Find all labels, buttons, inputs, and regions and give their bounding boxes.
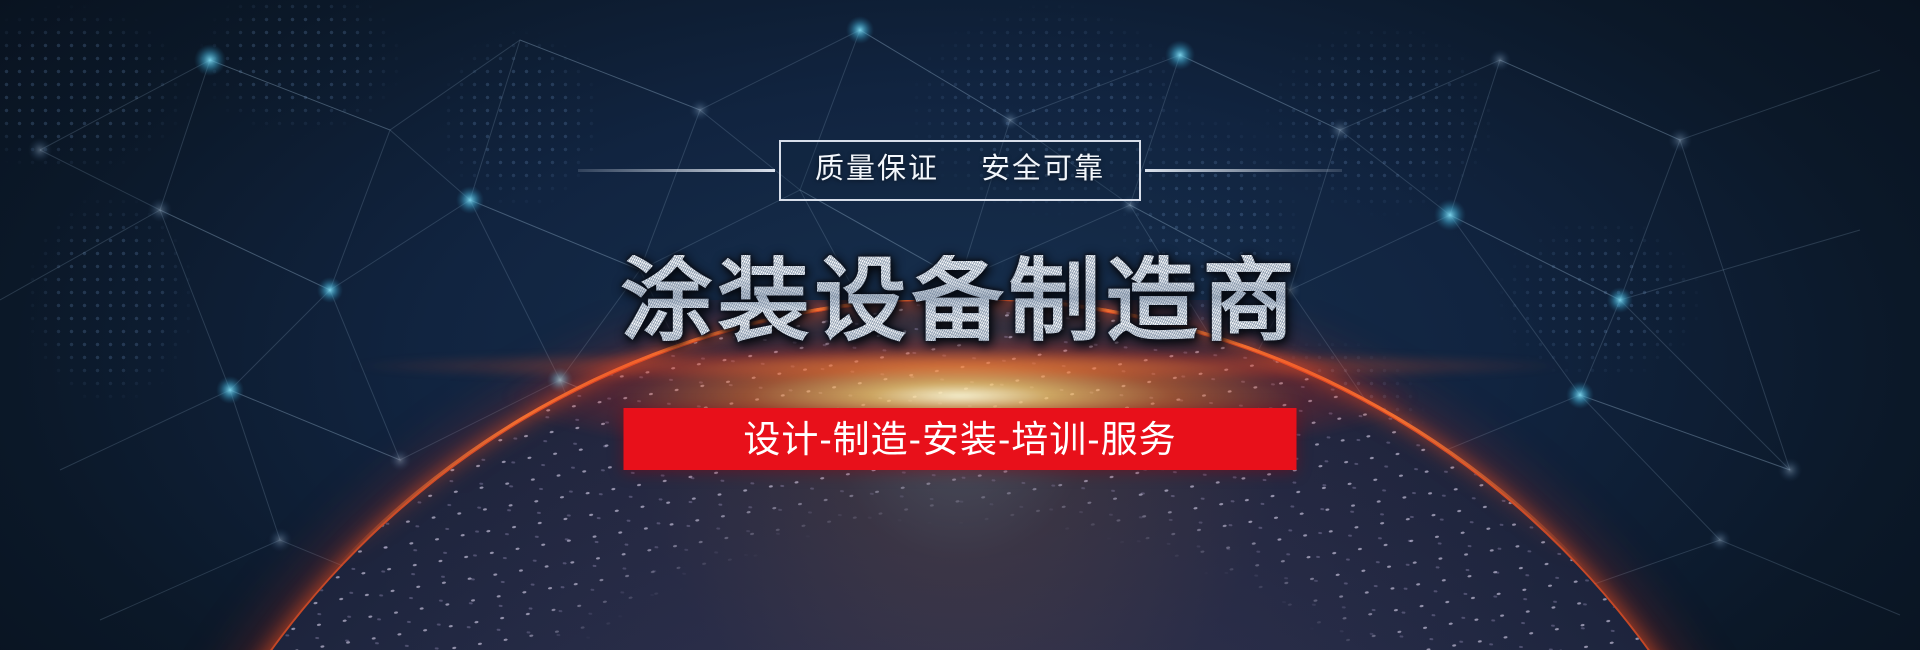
tagline-row: 质量保证 安全可靠 [0, 140, 1920, 201]
service-chain-bar: 设计-制造-安装-培训-服务 [624, 408, 1297, 470]
hero-banner: 质量保证 安全可靠 涂装设备制造商 设计-制造-安装-培训-服务 [0, 0, 1920, 650]
headline-title: 涂装设备制造商 [0, 255, 1920, 347]
tagline-item-safety: 安全可靠 [981, 155, 1105, 184]
tagline-rule-left [578, 169, 775, 172]
tagline-rule-right [1145, 169, 1342, 172]
tagline-box: 质量保证 安全可靠 [779, 140, 1141, 201]
tagline-item-quality: 质量保证 [815, 155, 939, 184]
service-chain-label: 设计-制造-安装-培训-服务 [743, 421, 1176, 458]
globe-graphic [80, 300, 1840, 650]
